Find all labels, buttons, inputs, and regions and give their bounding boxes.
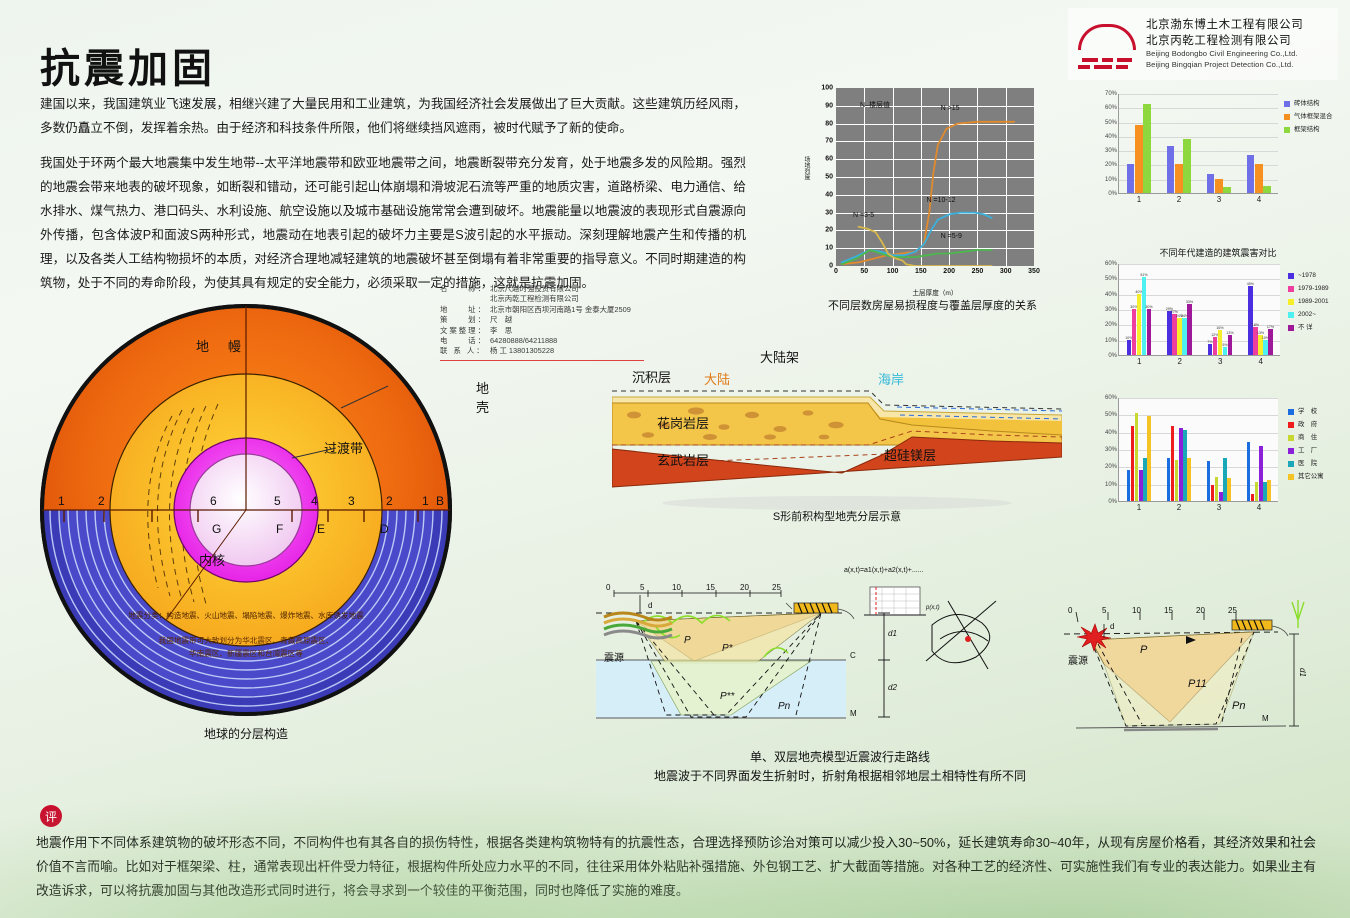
bar: [1215, 477, 1219, 501]
y-tick-label: 90: [825, 102, 833, 109]
x-tick-label: 350: [1028, 268, 1040, 275]
y-tick-label: 20%: [1105, 162, 1117, 168]
seismic-caption-line-2: 地震波于不同界面发生折射时，折射角根据相邻地层土相特性有所不同: [560, 767, 1120, 786]
bar: [1255, 482, 1259, 501]
note-badge: 评: [40, 805, 62, 827]
chart-legend: 学 校政 府商 住工 厂医 院其它公寓: [1288, 406, 1324, 484]
series-annotation: N >15: [941, 105, 960, 112]
legend-swatch: [1288, 448, 1294, 454]
bar: 13%: [1228, 335, 1232, 355]
seis-left-interface-c: C: [850, 651, 856, 660]
crust-label-basalt: 玄武岩层: [657, 450, 709, 469]
seismic-двухlayer-diagram: 0 5 10 15 20 25 d 震源 P P* P** Pn C M d1 …: [596, 565, 1016, 740]
bar: [1131, 426, 1135, 501]
legend-item: 其它公寓: [1288, 471, 1324, 482]
earth-scale-2: 2: [98, 494, 105, 508]
note-body: 地震作用下不同体系建筑物的破坏形态不同，不同构件也有其各自的损伤特性，根据各类建…: [28, 831, 1324, 903]
legend-item: ~1978: [1288, 270, 1329, 281]
x-tick-label: 1: [1137, 357, 1141, 366]
x-tick-label: 200: [943, 268, 955, 275]
bar: 10%: [1127, 340, 1131, 355]
y-tick-label: 0%: [1108, 191, 1117, 197]
contact-value: 北京丙乾工程检测有限公司: [490, 294, 680, 304]
line-chart-ylabel: 场地烈度: [802, 156, 811, 180]
legend-item: 1979-1989: [1288, 283, 1329, 294]
legend-label: 框架结构: [1294, 124, 1320, 135]
contact-row: 地 址：北京市朝阳区西坝河南路1号 金泰大厦2509: [440, 305, 680, 315]
y-tick-label: 0%: [1108, 499, 1117, 505]
earth-label-mantle: 地 幔: [196, 336, 244, 355]
crust-label-continent: 大陆: [704, 369, 730, 388]
bar-value-label: 7%: [1207, 340, 1212, 344]
earth-scale-1b: 1: [422, 494, 429, 508]
bar: [1259, 446, 1263, 501]
y-tick-label: 100: [821, 85, 833, 92]
bar-value-label: 13%: [1226, 331, 1233, 335]
bar: [1167, 146, 1175, 193]
grid-line: [1119, 398, 1278, 399]
bar: [1207, 174, 1215, 193]
y-tick-label: 50%: [1105, 120, 1117, 126]
chart-legend: 砖体结构气体框架混合框架结构: [1284, 98, 1332, 137]
chart-legend: ~19781979-19891989-20012002~不 详: [1288, 270, 1329, 335]
contact-key: 名 称：: [440, 284, 490, 294]
x-tick-label: 50: [860, 268, 868, 275]
legend-swatch: [1284, 127, 1290, 133]
earth-letter-d: D: [380, 522, 389, 536]
legend-item: 学 校: [1288, 406, 1324, 417]
bar: [1207, 461, 1211, 501]
legend-item: 气体框架混合: [1284, 111, 1332, 122]
y-tick-label: 60: [825, 156, 833, 163]
earth-label-inner-core: 内核: [199, 550, 225, 569]
legend-label: 政 府: [1298, 419, 1317, 430]
chart-structure-type-damage: 0%10%20%30%40%50%60%70%1234砖体结构气体框架混合框架结…: [1092, 86, 1344, 226]
seis-left-ray-p: P: [684, 635, 691, 646]
series-annotation: N =3-5: [853, 212, 874, 219]
bar: 12%: [1213, 337, 1217, 355]
crust-label-sediment: 沉积层: [632, 367, 671, 386]
y-tick-label: 40: [825, 191, 833, 198]
seis-right-d1: d1: [1298, 668, 1307, 677]
y-tick-label: 50: [825, 174, 833, 181]
y-tick-label: 0%: [1108, 353, 1117, 359]
x-tick-label: 3: [1217, 195, 1221, 204]
bar-value-label: 16%: [1216, 326, 1223, 330]
legend-swatch: [1288, 461, 1294, 467]
x-tick-label: 3: [1217, 503, 1221, 512]
bar: [1251, 494, 1255, 501]
bar: [1215, 179, 1223, 193]
earth-scale-1: 1: [58, 494, 65, 508]
legend-label: ~1978: [1298, 270, 1316, 281]
logo-company-en-1: Beijing Bodongbo Civil Engineering Co.,L…: [1146, 49, 1303, 59]
bar: [1247, 155, 1255, 193]
legend-item: 不 详: [1288, 322, 1329, 333]
y-tick-label: 10%: [1105, 338, 1117, 344]
x-tick-label: 1: [1137, 195, 1141, 204]
crust-label-shelf: 大陆架: [760, 347, 799, 366]
seis-right-depth-d: d: [1110, 622, 1114, 631]
legend-swatch: [1284, 114, 1290, 120]
bar: [1263, 482, 1267, 501]
bar: [1187, 458, 1191, 501]
legend-item: 医 院: [1288, 458, 1324, 469]
grid-line: [1119, 94, 1278, 95]
earth-label-crust: 地壳: [476, 378, 489, 416]
bar: 24%: [1177, 318, 1181, 355]
legend-swatch: [1288, 273, 1294, 279]
bar-value-label: 27%: [1171, 310, 1178, 314]
legend-swatch: [1288, 422, 1294, 428]
grid-line: [1119, 450, 1278, 451]
earth-note-classification: 地震分类：构造地震、火山地震、塌陷地震、爆炸地震、水库诱发地震: [36, 610, 456, 621]
bar: 33%: [1187, 304, 1191, 355]
line-series: [842, 213, 992, 263]
bar-value-label: 33%: [1186, 300, 1193, 304]
crust-svg: [612, 345, 1062, 535]
seis-right-tick-10: 10: [1132, 606, 1141, 615]
intro-text: 建国以来，我国建筑业飞速发展，相继兴建了大量民用和工业建筑，为我国经济社会发展做…: [40, 92, 746, 306]
y-tick-label: 70%: [1105, 91, 1117, 97]
seismic-caption-line-1: 单、双层地壳模型近震波行走路线: [560, 748, 1120, 767]
legend-label: 1979-1989: [1298, 283, 1329, 294]
chart-soil-thickness-damage: 0501001502002503003500102030405060708090…: [800, 82, 1065, 312]
grid-line: [1119, 264, 1280, 265]
x-tick-label: 250: [972, 268, 984, 275]
bar: [1267, 480, 1271, 501]
seis-left-d1: d1: [888, 629, 897, 638]
y-tick-label: 20%: [1105, 322, 1117, 328]
y-tick-label: 50%: [1105, 276, 1117, 282]
bar: 40%: [1137, 294, 1141, 355]
bar: 51%: [1142, 277, 1146, 355]
bar: 7%: [1208, 344, 1212, 355]
logo-company-cn-2: 北京丙乾工程检测有限公司: [1146, 34, 1303, 50]
seis-left-tick-5: 5: [640, 583, 644, 592]
x-tick-label: 100: [887, 268, 899, 275]
logo-company-en-2: Beijing Bingqian Project Detection Co.,L…: [1146, 60, 1303, 70]
earth-letter-e: E: [317, 522, 325, 536]
earth-label-transition: 过渡带: [324, 438, 363, 457]
earth-scale-3: 3: [348, 494, 355, 508]
earth-letter-g: G: [212, 522, 221, 536]
seismic-caption: 单、双层地壳模型近震波行走路线 地震波于不同界面发生折射时，折射角根据相邻地层土…: [560, 748, 1120, 786]
seis-right-tick-0: 0: [1068, 606, 1072, 615]
bar-value-label: 30%: [1145, 305, 1152, 309]
bar: [1223, 187, 1231, 193]
seis-left-tick-20: 20: [740, 583, 749, 592]
seis-left-d2: d2: [888, 683, 897, 692]
legend-swatch: [1288, 435, 1294, 441]
x-tick-label: 4: [1257, 503, 1261, 512]
seismic-singlelayer-diagram: 0 5 10 15 20 25 d 震源 P P11 Pn M d1: [1046, 578, 1311, 738]
seis-left-tick-10: 10: [672, 583, 681, 592]
poster-root: 抗震加固 建国以来，我国建筑业飞速发展，相继兴建了大量民用和工业建筑，为我国经济…: [0, 0, 1350, 918]
seis-left-tick-15: 15: [706, 583, 715, 592]
seis-left-tick-25: 25: [772, 583, 781, 592]
legend-item: 2002~: [1288, 309, 1329, 320]
contact-value: 北京市朝阳区西坝河南路1号 金泰大厦2509: [490, 305, 680, 315]
legend-label: 商 住: [1298, 432, 1317, 443]
grid-line: [1119, 415, 1278, 416]
y-tick-label: 70: [825, 138, 833, 145]
x-tick-label: 150: [915, 268, 927, 275]
y-tick-label: 50%: [1105, 412, 1117, 418]
y-tick-label: 10%: [1105, 177, 1117, 183]
y-tick-label: 20: [825, 227, 833, 234]
bar: [1255, 164, 1263, 193]
y-tick-label: 40%: [1105, 134, 1117, 140]
earth-scale-6: 6: [210, 494, 217, 508]
bar: [1247, 442, 1251, 501]
page-title: 抗震加固: [40, 36, 216, 94]
legend-item: 框架结构: [1284, 124, 1332, 135]
bar: 45%: [1248, 286, 1252, 355]
contact-row: 文案整理：李 思: [440, 326, 680, 336]
line-chart-caption: 不同层数房屋易损程度与覆盖层厚度的关系: [800, 297, 1065, 313]
x-tick-label: 4: [1257, 195, 1261, 204]
y-tick-label: 60%: [1105, 261, 1117, 267]
earth-letter-b: B: [436, 494, 444, 508]
contact-value: 尺 越: [490, 315, 680, 325]
bar-value-label: 45%: [1247, 282, 1254, 286]
seis-right-interface-m: M: [1262, 714, 1269, 723]
bar: [1179, 428, 1183, 501]
bar: [1171, 426, 1175, 501]
legend-item: 商 住: [1288, 432, 1324, 443]
legend-swatch: [1288, 325, 1294, 331]
seis-left-interface-m: M: [850, 709, 857, 718]
bar: [1147, 416, 1151, 501]
logo-company-cn-1: 北京渤东博土木工程有限公司: [1146, 18, 1303, 34]
y-tick-label: 60%: [1105, 105, 1117, 111]
legend-item: 1989-2001: [1288, 296, 1329, 307]
bar: [1183, 139, 1191, 193]
y-tick-label: 20%: [1105, 464, 1117, 470]
y-tick-label: 30: [825, 209, 833, 216]
legend-label: 工 厂: [1298, 445, 1317, 456]
x-tick-label: 3: [1218, 357, 1222, 366]
line-chart-xlabel: 土层厚度（m）: [836, 287, 1034, 297]
series-annotation: N =10-12: [927, 197, 956, 204]
contact-row: 北京丙乾工程检测有限公司: [440, 294, 680, 304]
bar: 24%: [1182, 318, 1186, 355]
bar: [1219, 492, 1223, 501]
legend-label: 医 院: [1298, 458, 1317, 469]
x-tick-label: 0: [834, 268, 838, 275]
legend-swatch: [1288, 312, 1294, 318]
seis-left-tick-0: 0: [606, 583, 610, 592]
bar-value-label: 17%: [1267, 325, 1274, 329]
intro-paragraph-2: 我国处于环两个最大地震集中发生地带--太平洋地震带和欧亚地震带之间，地震断裂带充…: [40, 151, 746, 295]
y-tick-label: 0: [829, 263, 833, 270]
earth-caption: 地球的分层构造: [36, 725, 456, 742]
chart-title-era: 不同年代建造的建筑震害对比: [1092, 246, 1344, 259]
bar: [1139, 470, 1143, 501]
bar-value-label: 5%: [1222, 343, 1227, 347]
legend-swatch: [1288, 409, 1294, 415]
legend-item: 政 府: [1288, 419, 1324, 430]
contact-row: 名 称：北京尺越时强投资有限公司: [440, 284, 680, 294]
legend-label: 气体框架混合: [1294, 111, 1332, 122]
y-tick-label: 30%: [1105, 148, 1117, 154]
seis-right-ray-pn: Pn: [1232, 700, 1245, 712]
legend-label: 其它公寓: [1298, 471, 1324, 482]
crust-layers-diagram: 大陆架 沉积层 大陆 海岸 花岗岩层 玄武岩层 超硅镁层: [612, 345, 1062, 535]
earth-scale-4: 4: [311, 494, 318, 508]
seis-left-depth-d: d: [648, 601, 652, 610]
bar: [1135, 413, 1139, 501]
x-tick-label: 2: [1177, 195, 1181, 204]
bar: [1143, 458, 1147, 501]
chart-era-damage-comparison: 不同年代建造的建筑震害对比 0%10%20%30%40%50%60%10%30%…: [1092, 246, 1344, 394]
seis-right-ray-p11: P11: [1188, 678, 1207, 690]
intro-paragraph-1: 建国以来，我国建筑业飞速发展，相继兴建了大量民用和工业建筑，为我国经济社会发展做…: [40, 92, 746, 140]
x-tick-label: 4: [1259, 357, 1263, 366]
legend-swatch: [1288, 299, 1294, 305]
bar: [1175, 460, 1179, 501]
legend-label: 2002~: [1298, 309, 1316, 320]
x-tick-label: 2: [1178, 357, 1182, 366]
x-tick-label: 2: [1177, 503, 1181, 512]
seis-right-tick-5: 5: [1102, 606, 1106, 615]
crust-label-ultramafic: 超硅镁层: [884, 445, 936, 464]
y-tick-label: 30%: [1105, 447, 1117, 453]
grid-line: [1119, 433, 1278, 434]
bar: [1227, 478, 1231, 501]
bar-value-label: 13%: [1257, 331, 1264, 335]
bar: [1143, 104, 1151, 193]
logo-mark-icon: [1074, 14, 1140, 74]
bar: [1167, 458, 1171, 501]
y-tick-label: 40%: [1105, 292, 1117, 298]
y-tick-label: 30%: [1105, 307, 1117, 313]
bar: 29%: [1167, 311, 1171, 355]
seis-right-tick-20: 20: [1196, 606, 1205, 615]
contact-value: 李 思: [490, 326, 680, 336]
legend-label: 学 校: [1298, 406, 1317, 417]
chart-building-use-damage: 0%10%20%30%40%50%60%1234学 校政 府商 住工 厂医 院其…: [1092, 392, 1344, 532]
bar-value-label: 18%: [1252, 323, 1259, 327]
bar: [1127, 470, 1131, 501]
earth-note-zones-1: 我国地震带可大致划分为华北震区、青藏高原震区、: [36, 635, 456, 646]
seis-left-equation: a(x,t)=a1(x,t)+a2(x,t)+......: [844, 567, 924, 574]
seis-left-ray-pstar: P*: [722, 643, 733, 654]
crust-label-granite: 花岗岩层: [657, 413, 709, 432]
earth-note-zones-2: 华南震区、新疆震区和台湾震区等: [36, 648, 456, 659]
bar: 27%: [1172, 314, 1176, 355]
legend-label: 1989-2001: [1298, 296, 1329, 307]
legend-item: 工 厂: [1288, 445, 1324, 456]
bar: [1183, 430, 1187, 501]
bar: 5%: [1223, 347, 1227, 355]
bar: 30%: [1132, 309, 1136, 355]
bar: [1175, 164, 1183, 193]
bottom-note: 评 地震作用下不同体系建筑物的破坏形态不同，不同构件也有其各自的损伤特性，根据各…: [28, 805, 1324, 903]
seis-left-field-label: p(x,t): [926, 605, 940, 611]
y-tick-label: 10%: [1105, 482, 1117, 488]
chart-annotation: N–楼层值: [860, 100, 890, 110]
bar: [1127, 164, 1135, 193]
line-series: [842, 122, 1015, 264]
earth-structure-diagram: 地 幔 过渡带 内核 地壳 1 2 6 5 4 3 2 1 G F E D B …: [36, 300, 456, 750]
earth-scale-2b: 2: [386, 494, 393, 508]
contact-row: 策 划：尺 越: [440, 315, 680, 325]
seis-left-source-label: 震源: [604, 649, 624, 664]
legend-label: 不 详: [1298, 322, 1313, 333]
bar: 30%: [1147, 309, 1151, 355]
seis-right-source-label: 震源: [1068, 652, 1088, 667]
bar-value-label: 51%: [1140, 273, 1147, 277]
line-chart-plot: 0501001502002503003500102030405060708090…: [836, 88, 1034, 266]
bar: [1223, 458, 1227, 501]
bar: [1135, 125, 1143, 193]
legend-swatch: [1288, 474, 1294, 480]
legend-swatch: [1288, 286, 1294, 292]
y-tick-label: 10: [825, 245, 833, 252]
line-series-svg: [836, 88, 1034, 266]
earth-letter-f: F: [276, 522, 283, 536]
contact-value: 北京尺越时强投资有限公司: [490, 284, 680, 294]
legend-label: 砖体结构: [1294, 98, 1320, 109]
crust-label-coast: 海岸: [878, 369, 904, 388]
legend-item: 砖体结构: [1284, 98, 1332, 109]
earth-scale-5: 5: [274, 494, 281, 508]
bar: 10%: [1263, 340, 1267, 355]
company-logo: 北京渤东博土木工程有限公司 北京丙乾工程检测有限公司 Beijing Bodon…: [1068, 8, 1338, 80]
bar-chart-plot: 0%10%20%30%40%50%60%70%1234: [1118, 94, 1278, 194]
legend-swatch: [1284, 101, 1290, 107]
seismic-left-svg: [596, 565, 1016, 740]
bar: [1263, 186, 1271, 193]
seis-right-tick-15: 15: [1164, 606, 1173, 615]
seis-left-ray-pn: Pn: [778, 701, 790, 712]
seis-left-ray-pstarstar: P**: [720, 691, 734, 702]
series-annotation: N =5-9: [941, 233, 962, 240]
y-tick-label: 60%: [1105, 395, 1117, 401]
bar: 17%: [1268, 329, 1272, 355]
bar-chart-plot: 0%10%20%30%40%50%60%1234: [1118, 398, 1278, 502]
x-tick-label: 1: [1137, 503, 1141, 512]
x-tick-label: 300: [1000, 268, 1012, 275]
bar-chart-plot: 0%10%20%30%40%50%60%10%30%40%51%30%129%2…: [1118, 264, 1280, 356]
seis-right-tick-25: 25: [1228, 606, 1237, 615]
y-tick-label: 40%: [1105, 430, 1117, 436]
crust-caption: S形前积构型地壳分层示意: [612, 508, 1062, 524]
y-tick-label: 80: [825, 120, 833, 127]
seis-right-ray-p: P: [1140, 644, 1147, 656]
bar: [1211, 485, 1215, 501]
